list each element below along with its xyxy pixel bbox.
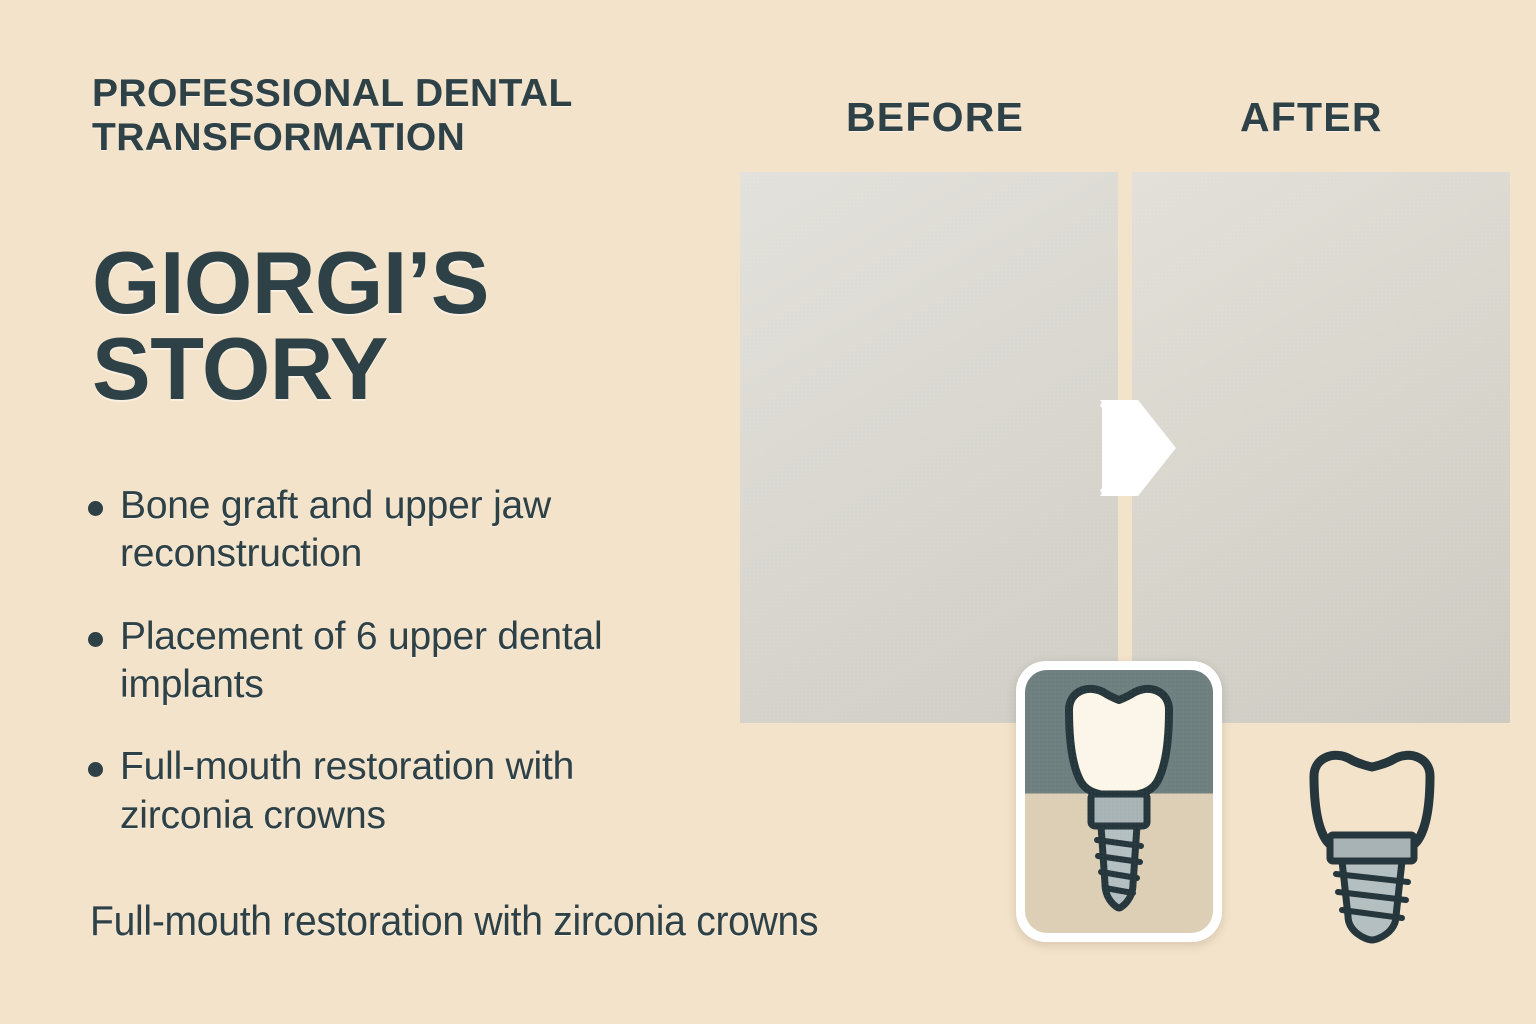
list-item-label: Bone graft and upper jaw reconstruction xyxy=(120,482,688,579)
bullet-dot-icon xyxy=(88,632,103,647)
list-item: Placement of 6 upper dental implants xyxy=(88,613,688,710)
page-title: GIORGI’S STORY xyxy=(92,240,732,412)
list-item: Bone graft and upper jaw reconstruction xyxy=(88,482,688,579)
headline-line-1: GIORGI’S xyxy=(92,233,489,332)
before-label: BEFORE xyxy=(846,94,1024,141)
after-label: AFTER xyxy=(1240,94,1383,141)
headline-line-2: STORY xyxy=(92,319,388,418)
bullet-dot-icon xyxy=(88,762,103,777)
implant-illustration xyxy=(1025,670,1213,933)
list-item: Full-mouth restoration with zirconia cro… xyxy=(88,743,688,840)
list-item-label: Full-mouth restoration with zirconia cro… xyxy=(120,743,688,840)
before-photo xyxy=(740,172,1118,723)
dental-implant-outline-icon xyxy=(1286,742,1458,948)
footer-caption: Full-mouth restoration with zirconia cro… xyxy=(90,898,1057,944)
after-photo xyxy=(1132,172,1510,723)
poster-canvas: PROFESSIONAL DENTAL TRANSFORMATION GIORG… xyxy=(0,0,1536,1024)
eyebrow-heading: PROFESSIONAL DENTAL TRANSFORMATION xyxy=(92,72,742,160)
bullet-dot-icon xyxy=(88,501,103,516)
chevron-right-icon xyxy=(1096,398,1180,498)
treatment-list: Bone graft and upper jaw reconstruction … xyxy=(88,482,688,874)
dental-implant-badge-icon xyxy=(1016,661,1222,942)
list-item-label: Placement of 6 upper dental implants xyxy=(120,613,688,710)
